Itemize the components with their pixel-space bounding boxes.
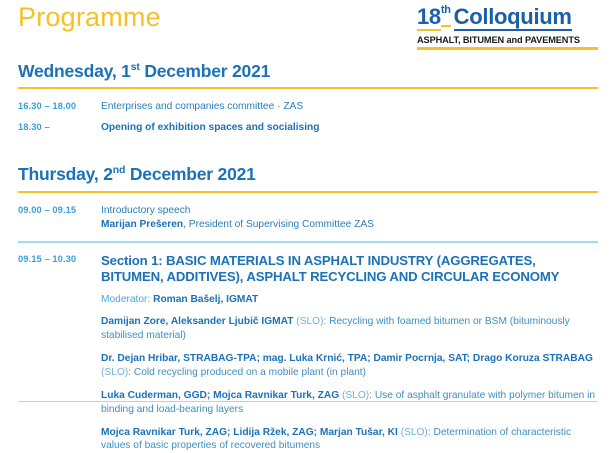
weekday-label: Wednesday, (18, 61, 121, 81)
divider-bottom (18, 401, 598, 403)
moderator-line: Moderator: Roman Bašelj, IGMAT (101, 293, 598, 307)
section-title: Section 1: BASIC MATERIALS IN ASPHALT IN… (101, 253, 598, 286)
row-text: Enterprises and companies committee · ZA… (101, 100, 598, 114)
talk-language: (SLO) (293, 316, 323, 327)
logo-gold-rule (417, 47, 598, 50)
day-heading-thursday: Thursday, 2nd December 2021 (18, 165, 598, 184)
schedule-row: 16.30 – 18.00 Enterprises and companies … (18, 100, 598, 114)
talk-item: Damijan Zore, Aleksander Ljubič IGMAT (S… (101, 315, 598, 343)
colloquium-logo: 18thColloquium ASPHALT, BITUMEN and PAVE… (417, 6, 598, 50)
row-time: 18.30 – (18, 121, 101, 132)
schedule-row-section-1: 09.15 – 10.30 Section 1: BASIC MATERIALS… (18, 253, 598, 453)
logo-ordinal: th (441, 5, 451, 27)
logo-number: 18 (417, 6, 441, 31)
programme-page: Programme 18thColloquium ASPHALT, BITUME… (0, 0, 614, 407)
schedule-row-intro-speech: 09.00 – 09.15 Introductory speech Marija… (18, 204, 598, 232)
day-number: 1 (121, 61, 131, 81)
talk-item: Dr. Dejan Hribar, STRABAG-TPA; mag. Luka… (101, 352, 598, 380)
talk-item: Mojca Ravnikar Turk, ZAG; Lidija Ržek, Z… (101, 426, 598, 453)
talk-item: Luka Cuderman, GGD; Mojca Ravnikar Turk,… (101, 389, 598, 417)
talk-authors: Luka Cuderman, GGD; Mojca Ravnikar Turk,… (101, 390, 339, 401)
page-header: Programme 18thColloquium ASPHALT, BITUME… (18, 0, 598, 62)
talk-description: : Cold recycling produced on a mobile pl… (128, 367, 366, 378)
schedule-row: 18.30 – Opening of exhibition spaces and… (18, 121, 598, 135)
row-time: 16.30 – 18.00 (18, 100, 101, 111)
logo-word: Colloquium (454, 6, 572, 31)
logo-main-line: 18thColloquium (417, 6, 598, 31)
talk-language: (SLO) (101, 367, 128, 378)
talk-authors: Damijan Zore, Aleksander Ljubič IGMAT (101, 316, 293, 327)
talk-authors: Mojca Ravnikar Turk, ZAG; Lidija Ržek, Z… (101, 427, 398, 438)
day-rest: December 2021 (140, 61, 270, 81)
talk-authors: Dr. Dejan Hribar, STRABAG-TPA; mag. Luka… (101, 353, 593, 364)
moderator-label: Moderator: (101, 294, 153, 305)
page-title: Programme (18, 4, 161, 31)
row-text: Opening of exhibition spaces and sociali… (101, 121, 598, 135)
day-ordinal: nd (113, 165, 125, 177)
row-time: 09.00 – 09.15 (18, 204, 101, 215)
day-ordinal: st (131, 61, 140, 73)
talk-language: (SLO) (398, 427, 428, 438)
day-rest: December 2021 (125, 164, 255, 184)
talk-language: (SLO) (339, 390, 369, 401)
weekday-label: Thursday, (18, 164, 103, 184)
day-number: 2 (103, 164, 113, 184)
moderator-name: Roman Bašelj, IGMAT (153, 294, 258, 305)
day-heading-wednesday: Wednesday, 1st December 2021 (18, 62, 598, 81)
speaker-name: Marijan Prešeren (101, 219, 183, 230)
row-text: Introductory speech (101, 204, 598, 218)
logo-subtitle: ASPHALT, BITUMEN and PAVEMENTS (417, 35, 598, 45)
speaker-role: , President of Supervising Committee ZAS (183, 219, 374, 230)
row-time: 09.15 – 10.30 (18, 253, 101, 264)
row-speaker-line: Marijan Prešeren, President of Supervisi… (101, 218, 598, 232)
